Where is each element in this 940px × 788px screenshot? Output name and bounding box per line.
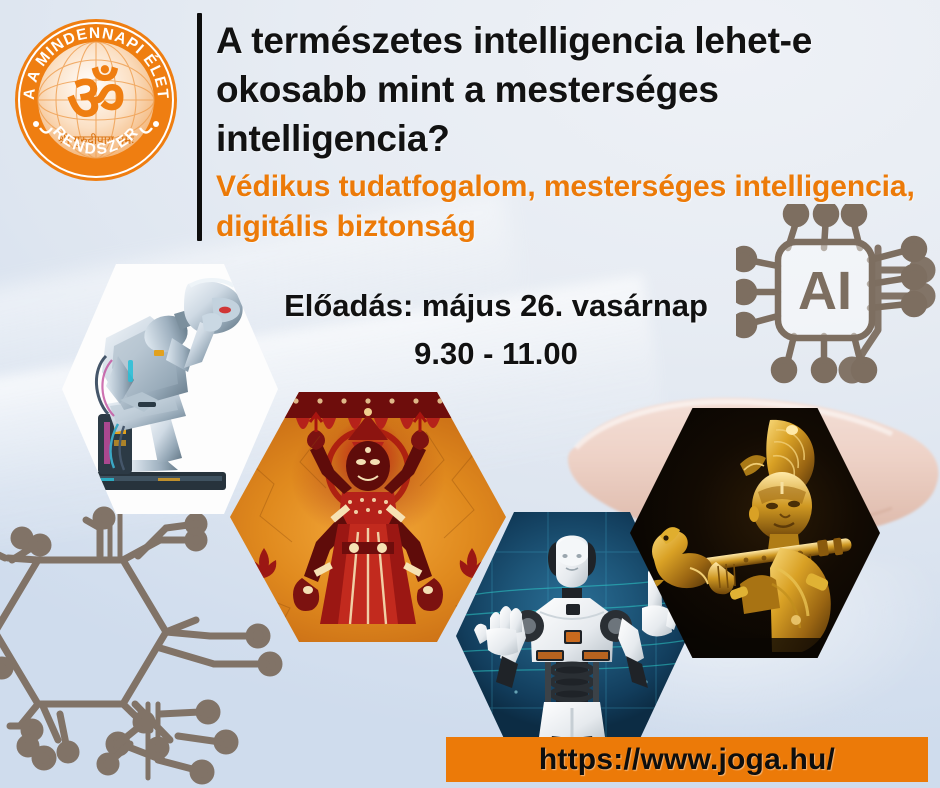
poster-canvas: ॐ श्री गुरुदीपाय नमः JÓGA A MINDENNAPI É… [0, 0, 940, 788]
logo: ॐ श्री गुरुदीपाय नमः JÓGA A MINDENNAPI É… [12, 16, 180, 184]
title-divider-bar [197, 13, 202, 241]
om-symbol: ॐ [67, 62, 125, 136]
event-line-1: Előadás: május 26. vasárnap [284, 288, 708, 323]
ai-chip-icon: AI [736, 204, 936, 384]
website-url-bar[interactable]: https://www.joga.hu/ [446, 737, 928, 782]
page-title: A természetes intelligencia lehet-e okos… [216, 16, 906, 163]
website-url-text: https://www.joga.hu/ [539, 743, 835, 777]
ai-chip-label: AI [798, 261, 852, 321]
